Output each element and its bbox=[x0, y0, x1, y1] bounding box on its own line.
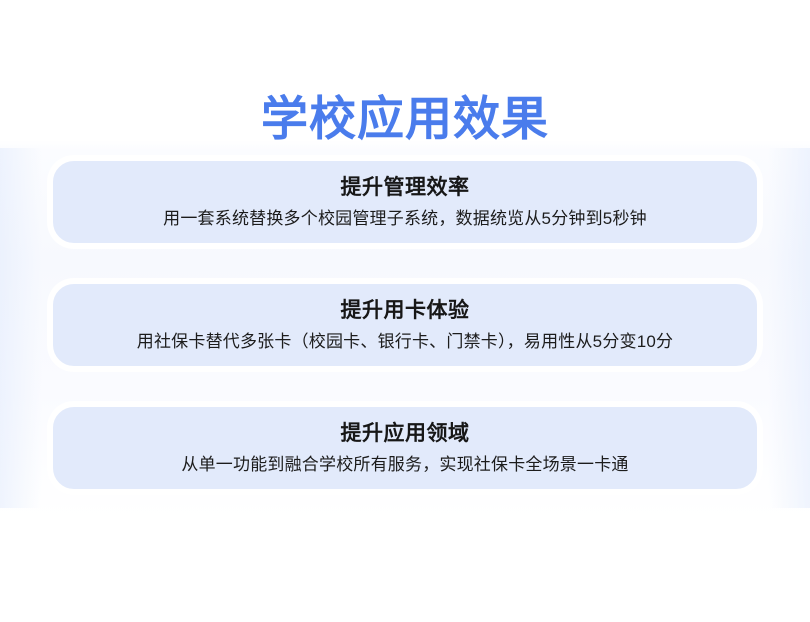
benefit-card-description: 用一套系统替换多个校园管理子系统，数据统览从5分钟到5秒钟 bbox=[163, 206, 647, 231]
benefit-card-card-experience: 提升用卡体验 用社保卡替代多张卡（校园卡、银行卡、门禁卡），易用性从5分变10分 bbox=[48, 279, 762, 371]
benefit-card-description: 用社保卡替代多张卡（校园卡、银行卡、门禁卡），易用性从5分变10分 bbox=[137, 329, 673, 354]
benefit-card-title: 提升用卡体验 bbox=[341, 297, 470, 325]
benefit-card-list: 提升管理效率 用一套系统替换多个校园管理子系统，数据统览从5分钟到5秒钟 提升用… bbox=[0, 156, 810, 494]
page-root: 学校应用效果 提升管理效率 用一套系统替换多个校园管理子系统，数据统览从5分钟到… bbox=[0, 0, 810, 622]
benefit-card-management-efficiency: 提升管理效率 用一套系统替换多个校园管理子系统，数据统览从5分钟到5秒钟 bbox=[48, 156, 762, 248]
benefit-card-description: 从单一功能到融合学校所有服务，实现社保卡全场景一卡通 bbox=[181, 452, 628, 477]
benefit-card-title: 提升管理效率 bbox=[341, 174, 470, 202]
benefit-card-application-scope: 提升应用领域 从单一功能到融合学校所有服务，实现社保卡全场景一卡通 bbox=[48, 402, 762, 494]
page-title: 学校应用效果 bbox=[0, 88, 810, 150]
benefit-card-title: 提升应用领域 bbox=[341, 420, 470, 448]
